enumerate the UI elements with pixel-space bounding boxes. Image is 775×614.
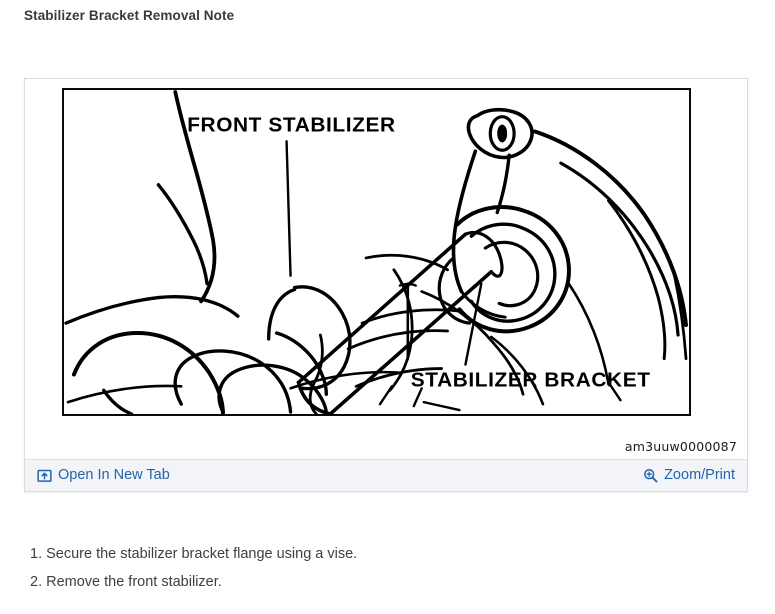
figure-image-code: am3uuw0000087 — [625, 439, 737, 454]
list-item: 1.Secure the stabilizer bracket flange u… — [30, 540, 730, 568]
step-number: 1. — [30, 546, 42, 562]
label-front-stabilizer: FRONT STABILIZER — [187, 114, 395, 137]
open-in-new-tab-button[interactable]: Open In New Tab — [37, 468, 170, 483]
figure-stage: FRONT STABILIZER STABILIZER BRACKET am3u… — [25, 79, 747, 460]
figure-action-bar: Open In New Tab Zoom/Print — [25, 459, 747, 491]
list-item: 2.Remove the front stabilizer. — [30, 568, 730, 596]
open-in-new-tab-label: Open In New Tab — [58, 468, 170, 483]
stabilizer-illustration[interactable]: FRONT STABILIZER STABILIZER BRACKET — [62, 88, 691, 416]
figure-panel: FRONT STABILIZER STABILIZER BRACKET am3u… — [24, 78, 748, 492]
front-stabilizer-leader — [287, 141, 291, 275]
zoom-print-label: Zoom/Print — [664, 468, 735, 483]
procedure-steps: 1.Secure the stabilizer bracket flange u… — [30, 540, 730, 596]
label-stabilizer-bracket: STABILIZER BRACKET — [411, 368, 651, 391]
open-in-new-tab-icon — [37, 468, 52, 483]
step-number: 2. — [30, 574, 42, 590]
magnifier-plus-icon — [643, 468, 658, 483]
page-title: Stabilizer Bracket Removal Note — [24, 8, 234, 23]
step-text: Secure the stabilizer bracket flange usi… — [46, 546, 357, 562]
step-text: Remove the front stabilizer. — [46, 574, 222, 590]
zoom-print-button[interactable]: Zoom/Print — [643, 468, 735, 483]
